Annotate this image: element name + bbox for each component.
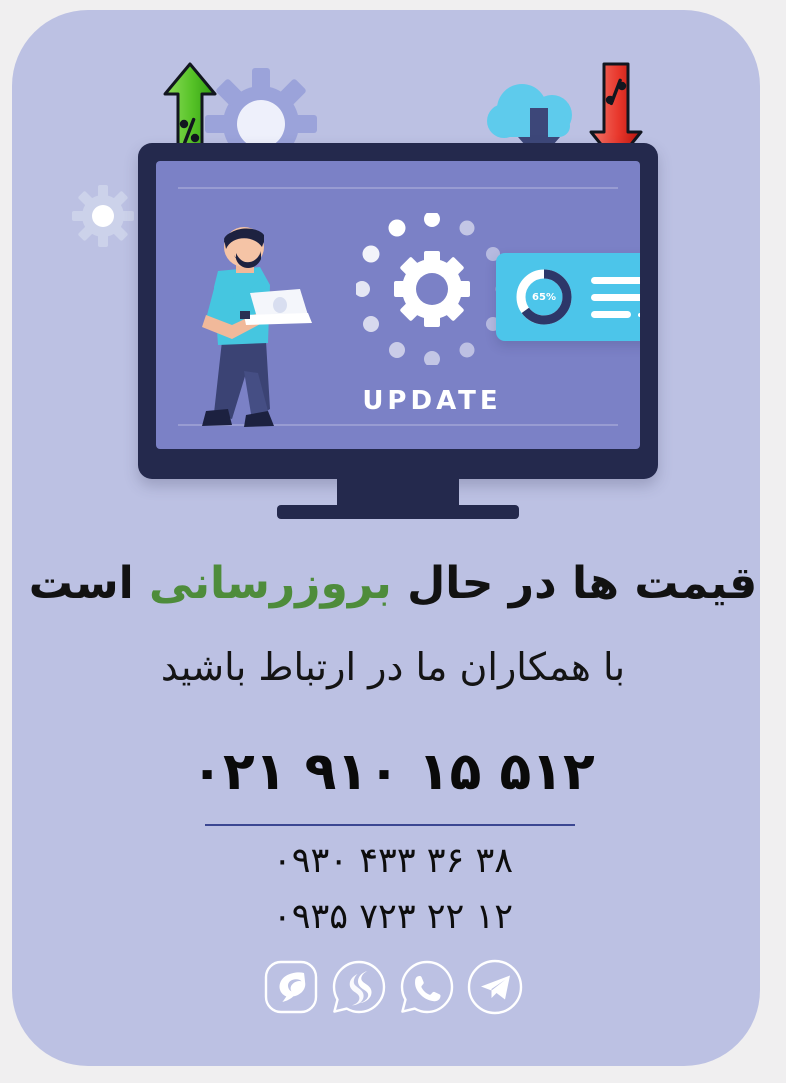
headline-suffix: است <box>29 558 149 609</box>
stat-bar-1 <box>591 277 640 284</box>
social-links <box>0 958 786 1016</box>
page-subline: با همکاران ما در ارتباط باشید <box>0 645 786 689</box>
page-headline: قیمت ها در حال بروزرسانی است <box>0 556 786 611</box>
stat-bar-dots <box>638 313 640 317</box>
monitor-base <box>277 505 519 519</box>
headline-prefix: قیمت ها در حال <box>392 558 757 609</box>
monitor-body: UPDATE 65% <box>138 143 658 479</box>
progress-donut-chart: 65% <box>513 266 575 328</box>
poster-page: UPDATE 65% <box>0 0 786 1083</box>
secondary-phone-number-1[interactable]: ۰۹۳۰ ۴۳۳ ۳۶ ۳۸ <box>0 841 786 881</box>
secondary-phone-number-2[interactable]: ۰۹۳۵ ۷۲۳ ۲۲ ۱۲ <box>0 897 786 937</box>
monitor-screen: UPDATE 65% <box>156 161 640 449</box>
headline-highlight: بروزرسانی <box>149 558 392 609</box>
person-with-laptop-illustration <box>188 223 318 449</box>
stat-bar-3 <box>591 311 631 318</box>
telegram-icon[interactable] <box>466 958 524 1016</box>
primary-phone-number[interactable]: ۰۲۱ ۹۱۰ ۱۵ ۵۱۲ <box>0 742 786 802</box>
progress-stat-card: 65% <box>496 253 640 341</box>
update-illustration: UPDATE 65% <box>60 55 690 540</box>
soroush-icon[interactable] <box>330 958 388 1016</box>
screen-rule-top <box>178 187 618 189</box>
update-label: UPDATE <box>326 386 538 416</box>
monitor-illustration: UPDATE 65% <box>138 143 658 528</box>
gear-small-icon <box>72 185 134 247</box>
gear-loading-icon <box>356 213 508 365</box>
eitaa-icon[interactable] <box>262 958 320 1016</box>
stat-bar-2 <box>591 294 640 301</box>
whatsapp-icon[interactable] <box>398 958 456 1016</box>
progress-donut-label: 65% <box>513 266 575 328</box>
phone-divider <box>205 824 575 826</box>
